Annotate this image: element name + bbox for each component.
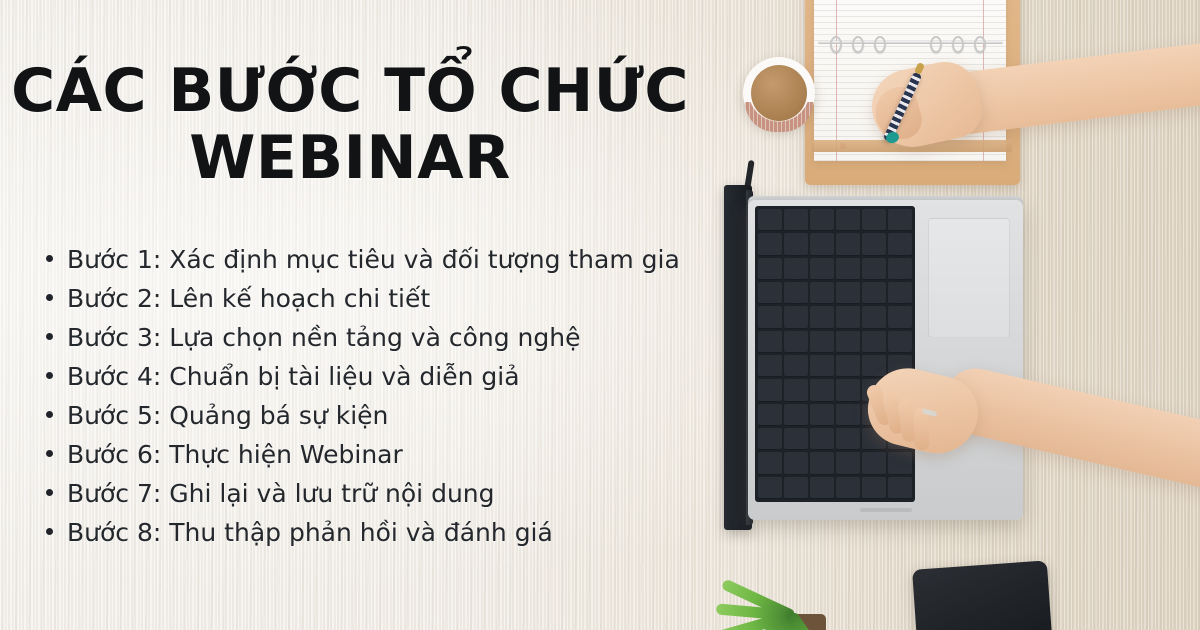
keyboard-key xyxy=(810,404,834,426)
step-label: Bước 1: Xác định mục tiêu và đối tượng t… xyxy=(67,240,680,279)
keyboard-key xyxy=(784,233,808,255)
keyboard-key xyxy=(758,282,782,304)
steps-list: Bước 1: Xác định mục tiêu và đối tượng t… xyxy=(46,240,706,552)
keyboard-key xyxy=(888,306,912,328)
list-item: Bước 5: Quảng bá sự kiện xyxy=(46,396,706,435)
list-item: Bước 7: Ghi lại và lưu trữ nội dung xyxy=(46,474,706,513)
step-label: Bước 2: Lên kế hoạch chi tiết xyxy=(67,279,430,318)
title-line-2: WEBINAR xyxy=(0,125,700,192)
step-label: Bước 4: Chuẩn bị tài liệu và diễn giả xyxy=(67,357,520,396)
ring-icon xyxy=(830,36,842,53)
keyboard-key xyxy=(888,331,912,353)
ring-icon xyxy=(852,36,864,53)
keyboard-key xyxy=(758,428,782,450)
keyboard-key xyxy=(810,306,834,328)
keyboard-key xyxy=(862,258,886,280)
cup-sleeve xyxy=(745,102,813,132)
step-label: Bước 8: Thu thập phản hồi và đánh giá xyxy=(67,513,553,552)
keyboard-key xyxy=(758,331,782,353)
ring-icon xyxy=(874,36,886,53)
keyboard-key xyxy=(862,233,886,255)
keyboard-key xyxy=(836,428,860,450)
keyboard-key xyxy=(810,233,834,255)
keyboard-key xyxy=(784,379,808,401)
list-item: Bước 3: Lựa chọn nền tảng và công nghệ xyxy=(46,318,706,357)
laptop-keyboard xyxy=(755,206,915,502)
step-label: Bước 7: Ghi lại và lưu trữ nội dung xyxy=(67,474,495,513)
infographic-canvas: CÁC BƯỚC TỔ CHỨC WEBINAR Bước 1: Xác địn… xyxy=(0,0,1200,630)
keyboard-key xyxy=(810,477,834,499)
list-item: Bước 8: Thu thập phản hồi và đánh giá xyxy=(46,513,706,552)
keyboard-key xyxy=(862,331,886,353)
ring-icon xyxy=(930,36,942,53)
step-label: Bước 3: Lựa chọn nền tảng và công nghệ xyxy=(67,318,580,357)
keyboard-key xyxy=(888,233,912,255)
list-item: Bước 2: Lên kế hoạch chi tiết xyxy=(46,279,706,318)
notebook-rings xyxy=(818,36,1003,49)
keyboard-key xyxy=(836,379,860,401)
ring-icon xyxy=(952,36,964,53)
keyboard-key xyxy=(810,428,834,450)
bullet-icon xyxy=(46,294,53,301)
laptop-front-notch xyxy=(860,508,912,512)
tablet xyxy=(912,560,1053,630)
step-label: Bước 5: Quảng bá sự kiện xyxy=(67,396,388,435)
paper-margin-left xyxy=(836,0,837,161)
keyboard-key xyxy=(784,404,808,426)
keyboard-key xyxy=(836,233,860,255)
keyboard-key xyxy=(784,258,808,280)
keyboard-key xyxy=(784,428,808,450)
keyboard-key xyxy=(810,209,834,231)
keyboard-key xyxy=(836,355,860,377)
plant xyxy=(720,540,890,630)
ring-icon xyxy=(974,36,986,53)
keyboard-key xyxy=(862,282,886,304)
list-item: Bước 6: Thực hiện Webinar xyxy=(46,435,706,474)
keyboard-key xyxy=(836,209,860,231)
keyboard-key xyxy=(758,209,782,231)
bullet-icon xyxy=(46,411,53,418)
step-label: Bước 6: Thực hiện Webinar xyxy=(67,435,403,474)
keyboard-key xyxy=(862,452,886,474)
keyboard-key xyxy=(758,258,782,280)
coffee-cup xyxy=(743,57,815,129)
desk-photo-objects xyxy=(700,0,1200,630)
page-title: CÁC BƯỚC TỔ CHỨC WEBINAR xyxy=(0,58,700,192)
keyboard-key xyxy=(836,331,860,353)
keyboard-key xyxy=(784,452,808,474)
keyboard-key xyxy=(836,452,860,474)
keyboard-key xyxy=(862,209,886,231)
keyboard-key xyxy=(810,331,834,353)
bullet-icon xyxy=(46,333,53,340)
keyboard-key xyxy=(836,282,860,304)
keyboard-key xyxy=(810,452,834,474)
keyboard-key xyxy=(888,209,912,231)
bullet-icon xyxy=(46,372,53,379)
keyboard-key xyxy=(784,355,808,377)
keyboard-key xyxy=(758,452,782,474)
bullet-icon xyxy=(46,528,53,535)
bullet-icon xyxy=(46,255,53,262)
keyboard-key xyxy=(810,355,834,377)
keyboard-key xyxy=(862,477,886,499)
keyboard-key xyxy=(836,404,860,426)
keyboard-key xyxy=(758,477,782,499)
keyboard-key xyxy=(888,282,912,304)
keyboard-key xyxy=(862,306,886,328)
list-item: Bước 1: Xác định mục tiêu và đối tượng t… xyxy=(46,240,706,279)
keyboard-key xyxy=(836,306,860,328)
keyboard-key xyxy=(836,258,860,280)
keyboard-key xyxy=(784,306,808,328)
keyboard-key xyxy=(758,379,782,401)
keyboard-key xyxy=(810,379,834,401)
keyboard-key xyxy=(758,233,782,255)
keyboard-key xyxy=(888,477,912,499)
keyboard-key xyxy=(862,355,886,377)
list-item: Bước 4: Chuẩn bị tài liệu và diễn giả xyxy=(46,357,706,396)
keyboard-key xyxy=(784,331,808,353)
keyboard-key xyxy=(784,209,808,231)
keyboard-key xyxy=(810,282,834,304)
bullet-icon xyxy=(46,489,53,496)
keyboard-key xyxy=(758,306,782,328)
keyboard-key xyxy=(784,477,808,499)
keyboard-key xyxy=(888,452,912,474)
laptop-trackpad xyxy=(928,218,1010,338)
keyboard-key xyxy=(888,258,912,280)
keyboard-key xyxy=(810,258,834,280)
title-line-1: CÁC BƯỚC TỔ CHỨC xyxy=(0,58,700,125)
bullet-icon xyxy=(46,450,53,457)
keyboard-key xyxy=(758,404,782,426)
keyboard-key xyxy=(758,355,782,377)
keyboard-key xyxy=(784,282,808,304)
keyboard-key xyxy=(836,477,860,499)
